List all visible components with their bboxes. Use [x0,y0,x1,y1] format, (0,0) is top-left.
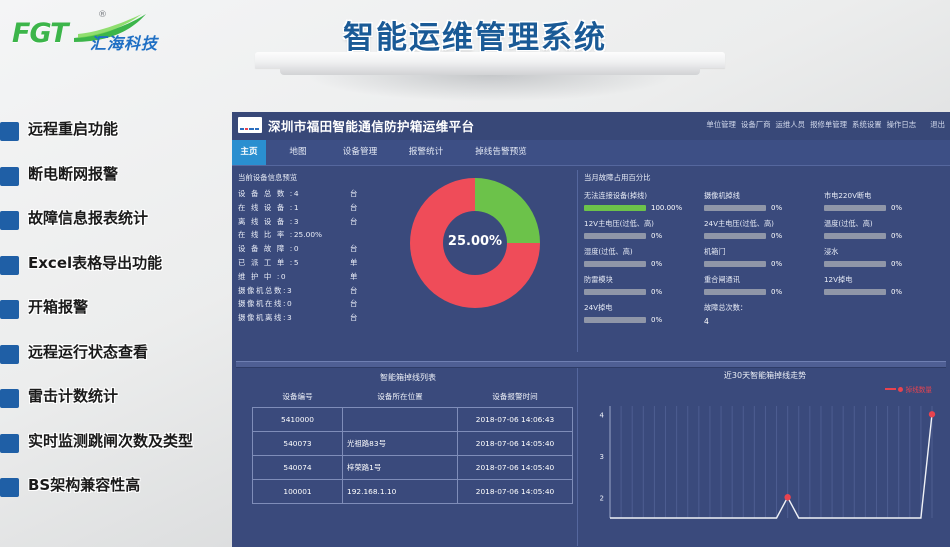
fault-bar [704,233,766,239]
fault-value: 0% [771,204,782,212]
feature-bullet-item: 开箱报警 [0,296,246,341]
online-ratio-donut-chart: 25.00% [410,178,540,308]
stat-value: 5 [294,258,299,267]
top-menu-item[interactable]: 操作日志 [887,120,917,129]
fault-percentage-panel: 当月故障占用百分比 无法连接设备(掉线)100.00%摄像机掉线0%市电220V… [584,172,944,333]
fault-bar [584,233,646,239]
device-stat-row: 离 线 设 备 :3台 [238,216,360,230]
fault-value: 0% [651,260,662,268]
fault-item: 重合闸通讯0% [704,275,824,296]
bullet-square-icon [0,345,19,364]
feature-bullet-item: 远程运行状态查看 [0,341,246,386]
fault-total-value: 4 [704,317,816,326]
fault-value: 0% [891,260,902,268]
bullet-label: 故障信息报表统计 [28,207,148,228]
stat-key: 在 线 比 率 : [238,229,294,240]
table-cell-id: 540073 [253,432,343,456]
fault-item: 摄像机掉线0% [704,191,824,212]
fault-label: 12V主电压(过低、高) [584,219,696,229]
page-title: 智能运维管理系统 [0,12,950,57]
bullet-label: 雷击计数统计 [28,385,118,406]
fault-bar [584,205,646,211]
nav-tab-3[interactable]: 报警统计 [398,140,454,165]
device-stat-row: 在 线 设 备 :1台 [238,202,360,216]
stat-value: 3 [287,313,292,322]
fault-bar [704,261,766,267]
fault-label: 机箱门 [704,247,816,257]
table-header-row: 设备编号设备所在位置设备报警时间 [253,388,573,408]
fault-label: 摄像机掉线 [704,191,816,201]
logout-button[interactable]: 退出 [930,120,945,129]
stat-key: 设 备 故 障 : [238,243,294,254]
fault-bar [704,289,766,295]
feature-bullet-item: 远程重启功能 [0,118,246,163]
device-stat-row: 摄像机总数:3台 [238,285,360,299]
nav-tab-2[interactable]: 设备管理 [332,140,388,165]
fault-label: 湿度(过低、高) [584,247,696,257]
top-menu-item[interactable]: 单位管理 [706,120,736,129]
bullet-label: 远程重启功能 [28,118,118,139]
fault-item: 温度(过低、高)0% [824,219,944,240]
app-header: 深圳市福田智能通信防护箱运维平台 单位管理设备厂商运维人员报修单管理系统设置操作… [232,112,950,140]
table-cell-time: 2018-07-06 14:05:40 [458,456,573,480]
trend-chart-svg: 234 [588,398,940,533]
device-stat-row: 摄像机离线:3台 [238,312,360,326]
trend-data-point [929,411,935,417]
table-cell-id: 5410000 [253,408,343,432]
fault-total-label: 故障总次数： [704,303,816,313]
donut-center-label: 25.00% [410,234,540,249]
table-cell-id: 540074 [253,456,343,480]
table-row[interactable]: 54100002018-07-06 14:06:43 [253,408,573,432]
table-cell-location: 光祖路83号 [343,432,458,456]
device-info-title: 当前设备信息预览 [238,172,360,183]
device-stat-row: 已 派 工 单 :5单 [238,257,360,271]
bullet-label: BS架构兼容性高 [28,474,140,495]
application-window: 深圳市福田智能通信防护箱运维平台 单位管理设备厂商运维人员报修单管理系统设置操作… [232,112,950,547]
fault-value: 0% [771,260,782,268]
fault-label: 24V主电压(过低、高) [704,219,816,229]
fault-bar [584,289,646,295]
offline-list-title: 智能箱掉线列表 [238,372,578,383]
fault-label: 温度(过低、高) [824,219,936,229]
bullet-label: 实时监测跳闸次数及类型 [28,430,193,451]
stat-unit: 台 [350,285,357,296]
trend-y-axis: 234 [600,406,610,518]
stat-value: 1 [294,203,299,212]
fault-item: 防雷模块0% [584,275,704,296]
app-top-menu: 单位管理设备厂商运维人员报修单管理系统设置操作日志退出 [701,119,945,130]
fault-item: 12V主电压(过低、高)0% [584,219,704,240]
device-info-panel: 当前设备信息预览 设 备 总 数 :4台在 线 设 备 :1台离 线 设 备 :… [238,172,360,326]
app-logo-icon [238,117,262,133]
offline-device-list-panel: 智能箱掉线列表 设备编号设备所在位置设备报警时间 54100002018-07-… [238,372,578,504]
fault-bar-fill [584,205,646,211]
fault-label: 重合闸通讯 [704,275,816,285]
app-title: 深圳市福田智能通信防护箱运维平台 [268,116,474,135]
stat-unit: 台 [350,202,357,213]
fault-bar [824,233,886,239]
fault-bar [824,289,886,295]
table-cell-location: 192.168.1.10 [343,480,458,504]
stat-key: 在 线 设 备 : [238,202,294,213]
stat-value: 3 [287,286,292,295]
fault-bar [824,205,886,211]
svg-text:2: 2 [600,494,604,502]
table-body: 54100002018-07-06 14:06:43540073光祖路83号20… [253,408,573,504]
fault-value: 0% [651,288,662,296]
bullet-square-icon [0,122,19,141]
fault-bar [584,317,646,323]
top-menu-item[interactable]: 设备厂商 [741,120,771,129]
nav-tab-4[interactable]: 掉线告警预览 [464,140,538,165]
app-body: 当前设备信息预览 设 备 总 数 :4台在 线 设 备 :1台离 线 设 备 :… [232,166,950,547]
stat-value: 0 [294,244,299,253]
fault-label: 无法连接设备(掉线) [584,191,696,201]
table-cell-time: 2018-07-06 14:05:40 [458,432,573,456]
legend-line-icon [885,388,896,390]
trend-series [610,411,935,518]
top-menu-item[interactable]: 系统设置 [852,120,882,129]
trend-chart-title: 近30天智能箱掉线走势 [584,370,946,381]
stat-value: 4 [294,189,299,198]
trend-gridlines [610,406,932,518]
feature-bullet-item: 实时监测跳闸次数及类型 [0,430,246,475]
fault-value: 100.00% [651,204,682,212]
fault-item: 机箱门0% [704,247,824,268]
legend-dot-icon [898,387,903,392]
stat-key: 摄像机在线: [238,298,287,309]
stat-key: 设 备 总 数 : [238,188,294,199]
fault-value: 0% [651,316,662,324]
device-stat-row: 设 备 故 障 :0台 [238,243,360,257]
shelf-front [280,67,700,75]
fault-label: 防雷模块 [584,275,696,285]
fault-panel-title: 当月故障占用百分比 [584,172,944,183]
stat-key: 已 派 工 单 : [238,257,294,268]
stat-key: 维 护 中 : [238,271,281,282]
trend-data-point [784,494,790,500]
device-stat-row: 在 线 比 率 :25.00% [238,229,360,243]
stat-key: 摄像机离线: [238,312,287,323]
table-column-header: 设备编号 [253,388,343,408]
bullet-square-icon [0,300,19,319]
shelf-graphic [255,52,725,82]
fault-value: 0% [771,288,782,296]
fault-label: 12V掉电 [824,275,936,285]
bullet-label: 开箱报警 [28,296,88,317]
fault-item: 12V掉电0% [824,275,944,296]
feature-bullet-item: 断电断网报警 [0,163,246,208]
stat-unit: 台 [350,216,357,227]
stat-unit: 台 [350,188,357,199]
vertical-divider-top [577,170,578,352]
device-stat-row: 维 护 中 :0单 [238,271,360,285]
fault-value: 0% [891,232,902,240]
bullet-square-icon [0,478,19,497]
fault-label: 市电220V断电 [824,191,936,201]
bullet-label: 远程运行状态查看 [28,341,148,362]
table-cell-location: 梓荣路1号 [343,456,458,480]
fault-grid: 无法连接设备(掉线)100.00%摄像机掉线0%市电220V断电0%12V主电压… [584,191,944,333]
table-row[interactable]: 100001192.168.1.102018-07-06 14:05:40 [253,480,573,504]
feature-bullet-item: BS架构兼容性高 [0,474,246,519]
table-cell-location [343,408,458,432]
app-nav-tabs: 主页地图设备管理报警统计掉线告警预览 [232,140,950,166]
bullet-square-icon [0,211,19,230]
fault-item: 无法连接设备(掉线)100.00% [584,191,704,212]
svg-text:3: 3 [600,453,604,461]
top-menu-item[interactable]: 运维人员 [776,120,806,129]
fault-total: 故障总次数：4 [704,303,824,326]
stat-unit: 台 [350,312,357,323]
bullet-square-icon [0,256,19,275]
fault-bar [704,205,766,211]
svg-text:4: 4 [600,411,605,419]
table-cell-id: 100001 [253,480,343,504]
fault-value: 0% [891,204,902,212]
device-stat-row: 摄像机在线:0台 [238,298,360,312]
bullet-square-icon [0,167,19,186]
stat-value: 3 [294,217,299,226]
fault-label: 浸水 [824,247,936,257]
table-cell-time: 2018-07-06 14:05:40 [458,480,573,504]
fault-item: 湿度(过低、高)0% [584,247,704,268]
table-cell-time: 2018-07-06 14:06:43 [458,408,573,432]
fault-bar [584,261,646,267]
fault-value: 0% [891,288,902,296]
device-stat-row: 设 备 总 数 :4台 [238,188,360,202]
stat-value: 25.00% [294,230,322,239]
stat-key: 摄像机总数: [238,285,287,296]
bullet-label: Excel表格导出功能 [28,252,162,273]
fault-bar [824,261,886,267]
nav-tab-0[interactable]: 主页 [232,140,266,165]
stat-key: 离 线 设 备 : [238,216,294,227]
offline-device-table: 设备编号设备所在位置设备报警时间 54100002018-07-06 14:06… [252,388,573,504]
fault-label: 24V掉电 [584,303,696,313]
bullet-square-icon [0,434,19,453]
table-row[interactable]: 540074梓荣路1号2018-07-06 14:05:40 [253,456,573,480]
offline-trend-chart: 近30天智能箱掉线走势 掉线数量 234 [584,368,946,543]
stat-value: 0 [287,299,292,308]
stat-unit: 单 [350,257,357,268]
horizontal-separator[interactable] [236,361,946,368]
feature-bullet-item: 故障信息报表统计 [0,207,246,252]
fault-value: 0% [651,232,662,240]
device-info-rows: 设 备 总 数 :4台在 线 设 备 :1台离 线 设 备 :3台在 线 比 率… [238,188,360,326]
top-menu-item[interactable]: 报修单管理 [810,120,847,129]
shelf-top [255,52,725,68]
nav-tab-1[interactable]: 地图 [276,140,320,165]
bullet-label: 断电断网报警 [28,163,118,184]
stat-value: 0 [281,272,286,281]
bullet-square-icon [0,389,19,408]
fault-item: 24V掉电0% [584,303,704,326]
table-column-header: 设备报警时间 [458,388,573,408]
feature-bullet-item: 雷击计数统计 [0,385,246,430]
trend-chart-legend[interactable]: 掉线数量 [885,384,932,394]
fault-item: 市电220V断电0% [824,191,944,212]
shelf-shadow [310,75,670,101]
stat-unit: 台 [350,243,357,254]
fault-item: 浸水0% [824,247,944,268]
fault-value: 0% [771,232,782,240]
feature-bullet-item: Excel表格导出功能 [0,252,246,297]
stat-unit: 台 [350,298,357,309]
table-row[interactable]: 540073光祖路83号2018-07-06 14:05:40 [253,432,573,456]
fault-item: 24V主电压(过低、高)0% [704,219,824,240]
table-column-header: 设备所在位置 [343,388,458,408]
feature-bullet-list: 远程重启功能断电断网报警故障信息报表统计Excel表格导出功能开箱报警远程运行状… [0,118,246,519]
stat-unit: 单 [350,271,357,282]
legend-label: 掉线数量 [906,384,932,394]
